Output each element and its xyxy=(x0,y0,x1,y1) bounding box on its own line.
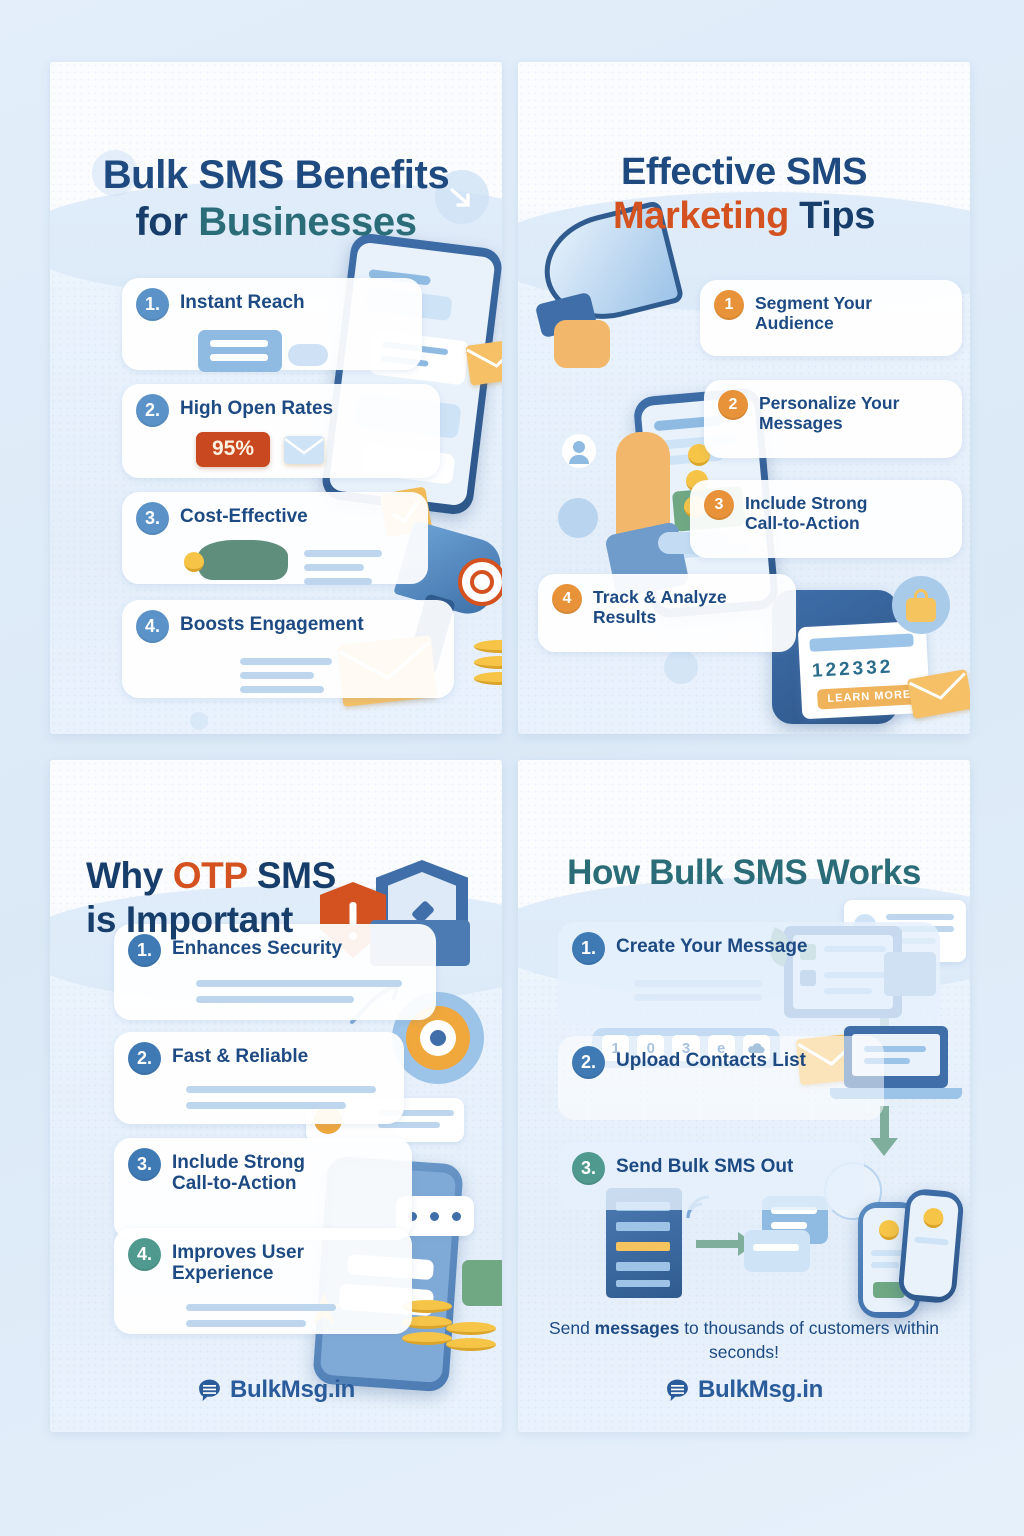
item-label: Track & Analyze Results xyxy=(593,584,727,627)
item-number-badge: 2 xyxy=(718,390,748,420)
skeleton-line xyxy=(196,996,354,1003)
skeleton-line xyxy=(196,980,402,987)
list-item[interactable]: 2 Personalize Your Messages xyxy=(704,380,962,458)
title-prefix: Why xyxy=(86,855,173,896)
item-number-badge: 1. xyxy=(572,932,605,965)
decorative-circle xyxy=(664,650,698,684)
list-item[interactable]: 4 Track & Analyze Results xyxy=(538,574,796,652)
gift-bag-icon xyxy=(462,1260,502,1306)
title-line-2: Marketing Tips xyxy=(518,196,970,236)
item-label: Boosts Engagement xyxy=(180,610,364,635)
coin-stack xyxy=(474,672,502,685)
title-line-1: Why OTP SMS xyxy=(86,856,336,895)
title-line-2: is Important xyxy=(86,900,336,939)
skeleton-line xyxy=(240,686,324,693)
speech-bubble-icon xyxy=(197,1378,222,1403)
list-item[interactable]: 3. Send Bulk SMS Out xyxy=(558,1142,864,1210)
skeleton-line xyxy=(304,564,364,571)
item-number-badge: 2. xyxy=(128,1042,161,1075)
otp-code: 122332 xyxy=(811,656,893,682)
server-bar xyxy=(616,1242,670,1251)
brand-name: BulkMsg.in xyxy=(230,1376,355,1404)
page-title: How Bulk SMS Works xyxy=(518,854,970,891)
skeleton-line xyxy=(186,1086,376,1093)
speech-bubble-icon xyxy=(665,1378,690,1403)
user-avatar-icon xyxy=(562,434,596,468)
skeleton-line xyxy=(186,1102,346,1109)
skeleton-line xyxy=(240,672,314,679)
phone-illustration xyxy=(897,1188,965,1305)
title-line-1: Bulk SMS Benefits xyxy=(50,154,502,196)
item-label: Instant Reach xyxy=(180,288,305,313)
list-item[interactable]: 1. Create Your Message xyxy=(558,922,940,1026)
skeleton-line xyxy=(634,980,762,987)
item-label: Include Strong Call-to-Action xyxy=(745,490,868,533)
skeleton-line xyxy=(186,1304,336,1311)
list-item[interactable]: 3 Include Strong Call-to-Action xyxy=(690,480,962,558)
server-bar xyxy=(616,1262,670,1271)
coin-stack xyxy=(446,1338,496,1351)
server-bar xyxy=(616,1280,670,1287)
target-icon xyxy=(458,558,502,606)
item-label: Upload Contacts List xyxy=(616,1046,806,1071)
title-line-2: for Businesses xyxy=(50,201,502,243)
server-bar xyxy=(616,1222,670,1231)
coin-stack xyxy=(402,1332,452,1345)
tagline-post: to thousands of customers within seconds… xyxy=(679,1318,939,1362)
item-label: Segment Your Audience xyxy=(755,290,872,333)
item-label: Personalize Your Messages xyxy=(759,390,899,433)
item-label: Send Bulk SMS Out xyxy=(616,1152,793,1177)
item-number-badge: 2. xyxy=(136,394,169,427)
coin-stack xyxy=(474,656,502,669)
item-label: Create Your Message xyxy=(616,932,808,957)
coin-stack xyxy=(446,1322,496,1335)
cloud-decoration xyxy=(288,344,328,366)
skeleton-line xyxy=(186,1320,306,1327)
tagline: Send messages to thousands of customers … xyxy=(546,1316,942,1364)
skeleton-line xyxy=(634,994,762,1001)
title-accent: Marketing xyxy=(613,195,789,237)
list-item[interactable]: 4. Improves User Experience xyxy=(114,1228,412,1334)
title-accent: OTP xyxy=(173,855,247,896)
brand-logo: BulkMsg.in xyxy=(518,1376,970,1404)
tagline-pre: Send xyxy=(549,1318,595,1338)
avatar xyxy=(923,1207,945,1229)
flow-arrow-head xyxy=(870,1138,898,1156)
list-item[interactable]: 4. Boosts Engagement xyxy=(122,600,454,698)
list-item[interactable]: 2. Upload Contacts List xyxy=(558,1036,884,1120)
title-line-1: Effective SMS xyxy=(518,152,970,192)
skeleton-line xyxy=(304,578,372,585)
message-bubble-decoration xyxy=(198,330,282,372)
item-label: High Open Rates xyxy=(180,394,333,419)
envelope-icon xyxy=(284,436,324,464)
page-title: Effective SMS Marketing Tips xyxy=(518,152,970,237)
title-suffix: Tips xyxy=(789,195,875,237)
item-label: Include Strong Call-to-Action xyxy=(172,1148,305,1195)
item-number-badge: 1 xyxy=(714,290,744,320)
item-number-badge: 3. xyxy=(128,1148,161,1181)
item-number-badge: 3. xyxy=(136,502,169,535)
learn-more-button[interactable]: LEARN MORE xyxy=(817,684,922,709)
infographic-canvas: Bulk SMS Benefits for Businesses 1. Inst… xyxy=(0,0,1024,1536)
list-item[interactable]: 1 Segment Your Audience xyxy=(700,280,962,356)
message-bubble-decoration xyxy=(744,1230,810,1272)
envelope-icon xyxy=(465,338,502,385)
tagline-bold: messages xyxy=(595,1318,680,1338)
decorative-circle xyxy=(558,498,598,538)
decorative-dot xyxy=(190,712,208,730)
item-label: Cost-Effective xyxy=(180,502,308,527)
list-item[interactable]: 3. Include Strong Call-to-Action xyxy=(114,1138,412,1240)
list-item[interactable]: 2. Fast & Reliable xyxy=(114,1032,404,1124)
list-item[interactable]: 2. High Open Rates xyxy=(122,384,440,478)
panel-how-bulk-sms-works: 1 0 3 e xyxy=(518,760,970,1432)
page-title: Bulk SMS Benefits for Businesses xyxy=(50,154,502,244)
panel-why-otp-sms-is-important: ★ Why OTP SMS is Important 1. Enhances S… xyxy=(50,760,502,1432)
item-number-badge: 4 xyxy=(552,584,582,614)
avatar xyxy=(879,1220,899,1240)
flow-arrow xyxy=(696,1240,740,1248)
item-number-badge: 3. xyxy=(572,1152,605,1185)
skeleton-line xyxy=(304,550,382,557)
brand-logo: BulkMsg.in xyxy=(50,1376,502,1404)
item-number-badge: 1. xyxy=(136,288,169,321)
item-label: Improves User Experience xyxy=(172,1238,304,1285)
title-suffix: SMS xyxy=(247,855,336,896)
skeleton-line xyxy=(240,658,332,665)
title-prefix: for xyxy=(135,200,198,244)
status-badge: 95% xyxy=(196,432,270,467)
item-number-badge: 4. xyxy=(128,1238,161,1271)
lock-icon xyxy=(906,598,936,622)
title-line-1: How Bulk SMS Works xyxy=(518,854,970,891)
page-title: Why OTP SMS is Important xyxy=(86,856,336,939)
panel-effective-sms-marketing-tips: 122332 LEARN MORE Effective SMS Marketin… xyxy=(518,62,970,734)
brand-name: BulkMsg.in xyxy=(698,1376,823,1404)
panel-bulk-sms-benefits: Bulk SMS Benefits for Businesses 1. Inst… xyxy=(50,62,502,734)
item-label: Fast & Reliable xyxy=(172,1042,308,1067)
item-number-badge: 2. xyxy=(572,1046,605,1079)
title-accent: Businesses xyxy=(198,200,416,244)
hand-illustration xyxy=(554,320,610,368)
item-number-badge: 3 xyxy=(704,490,734,520)
coin-stack xyxy=(474,640,502,653)
coin-icon xyxy=(184,552,204,572)
money-bag-icon xyxy=(198,540,288,580)
item-number-badge: 4. xyxy=(136,610,169,643)
